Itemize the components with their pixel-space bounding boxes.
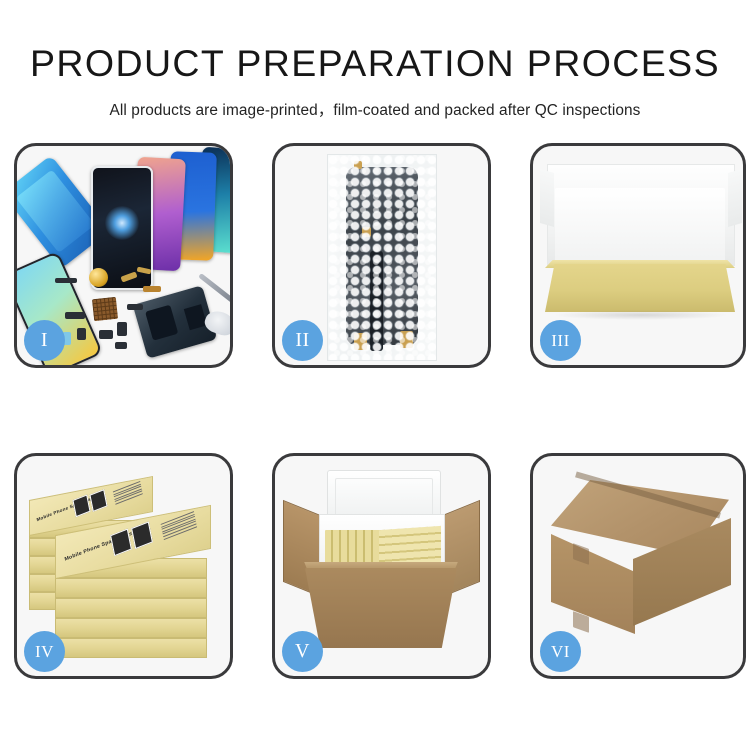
step-numeral: VI — [551, 642, 570, 662]
box-label-lines — [161, 511, 198, 541]
step-panel-boxed-stack: Mobile Phone Spare Parts — [14, 453, 233, 679]
step-badge-6: VI — [540, 631, 581, 672]
step-panel-inner-box: III — [530, 143, 746, 368]
step-numeral: V — [295, 640, 310, 663]
small-part — [115, 342, 127, 349]
stacked-box — [55, 618, 207, 638]
stacked-box — [55, 578, 207, 598]
step-badge-1: I — [24, 320, 65, 361]
stacked-box — [55, 598, 207, 618]
small-part — [65, 312, 85, 319]
small-part — [55, 278, 77, 283]
drop-shadow — [553, 310, 729, 320]
bubble-texture-overlay — [328, 155, 436, 360]
carton-body — [305, 568, 457, 648]
header: PRODUCT PREPARATION PROCESS All products… — [0, 0, 750, 120]
small-part — [117, 322, 127, 336]
small-part — [99, 330, 113, 339]
product-preparation-infographic: PRODUCT PREPARATION PROCESS All products… — [0, 0, 750, 750]
steps-grid: I II — [14, 143, 746, 679]
step-badge-4: IV — [24, 631, 65, 672]
small-part — [127, 304, 143, 310]
step-numeral: II — [295, 329, 309, 352]
step-badge-3: III — [540, 320, 581, 361]
step-panel-bubble-wrap: II — [272, 143, 491, 368]
box-label-thumbnail — [131, 521, 153, 549]
step-numeral: III — [551, 331, 569, 351]
box-label-thumbnail — [110, 529, 132, 557]
small-part — [143, 286, 161, 292]
page-title: PRODUCT PREPARATION PROCESS — [0, 0, 750, 85]
page-subtitle: All products are image-printed，film-coat… — [0, 85, 750, 120]
kraft-box-tray — [545, 264, 735, 312]
small-part — [77, 328, 86, 340]
step-panel-carton-filling: V — [272, 453, 491, 679]
box-label-thumbnail — [72, 494, 90, 517]
foam-sheet — [555, 188, 725, 264]
box-label-lines — [113, 481, 143, 506]
step-badge-2: II — [282, 320, 323, 361]
gold-component-icon — [89, 268, 108, 287]
stacked-box — [55, 638, 207, 658]
step-badge-5: V — [282, 631, 323, 672]
step-panel-product-parts: I — [14, 143, 233, 368]
step-numeral: I — [41, 329, 48, 352]
bubble-wrap-bag — [327, 154, 437, 361]
box-label-thumbnail — [89, 489, 107, 512]
carton-left-face — [551, 534, 635, 634]
step-panel-sealed-carton: VI — [530, 453, 746, 679]
step-numeral: IV — [35, 642, 54, 662]
chip-grid-icon — [92, 297, 118, 321]
